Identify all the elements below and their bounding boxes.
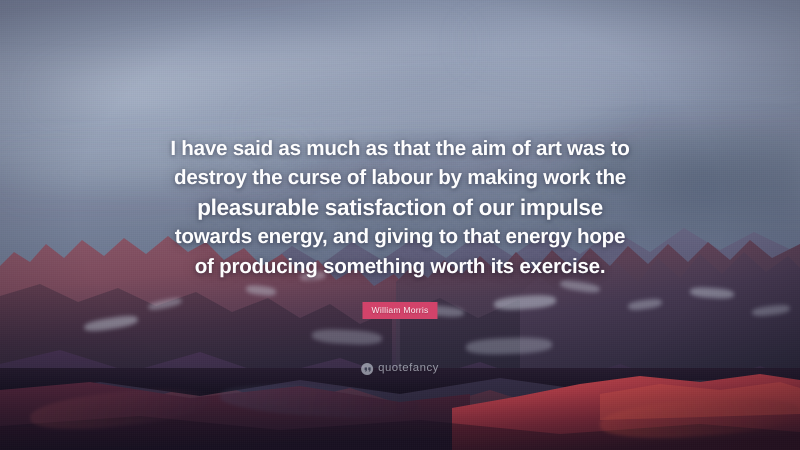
quotefancy-watermark[interactable]: quotefancy [361,363,439,375]
quote-text: I have said as much as that the aim of a… [154,134,646,281]
quote-mark-circle-icon [361,363,373,375]
author-name-badge[interactable]: William Morris [362,302,437,319]
author-attribution: William Morris [362,300,437,319]
quote-wallpaper: I have said as much as that the aim of a… [0,0,800,450]
quote-line-3: pleasurable satisfaction of our impulse [154,193,646,222]
quote-line-4: towards energy, and giving to that energ… [154,222,646,251]
quote-line-2: destroy the curse of labour by making wo… [154,163,646,192]
quote-line-1: I have said as much as that the aim of a… [154,134,646,163]
text-overlay: I have said as much as that the aim of a… [0,0,800,450]
watermark-brand-label: quotefancy [378,363,439,374]
quote-line-5: of producing something worth its exercis… [154,252,646,281]
